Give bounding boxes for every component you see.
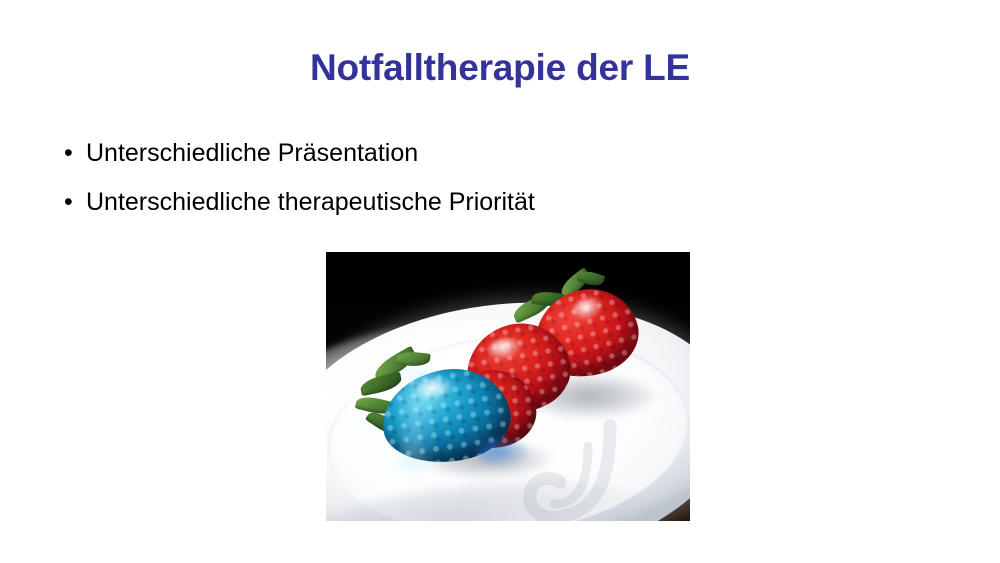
list-item: • Unterschiedliche Präsentation <box>60 136 700 185</box>
bullet-marker-icon: • <box>60 185 86 219</box>
photo-canvas <box>326 252 690 521</box>
bullet-text: Unterschiedliche therapeutische Prioritä… <box>86 185 535 219</box>
bullet-marker-icon: • <box>60 136 86 170</box>
slide-title: Notfalltherapie der LE <box>0 46 1000 90</box>
bullet-text: Unterschiedliche Präsentation <box>86 136 418 170</box>
presentation-slide: Notfalltherapie der LE • Unterschiedlich… <box>0 0 1000 563</box>
list-item: • Unterschiedliche therapeutische Priori… <box>60 185 700 234</box>
blue-light-spill <box>476 438 528 466</box>
bullet-list: • Unterschiedliche Präsentation • Unters… <box>60 136 700 234</box>
strawberries-photo <box>326 252 690 521</box>
